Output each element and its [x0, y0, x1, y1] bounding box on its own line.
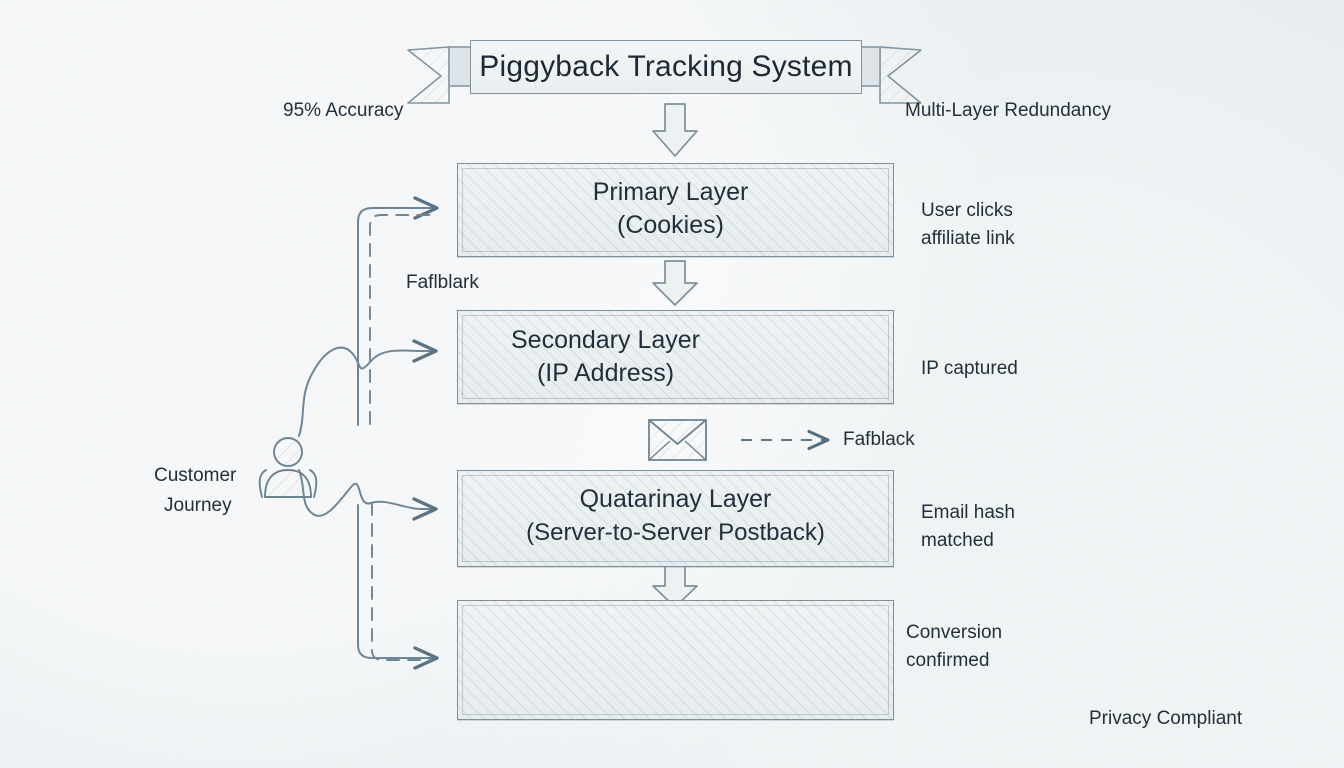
annotation-redundancy: Multi-Layer Redundancy: [905, 99, 1111, 124]
layer-box-quatarinay[interactable]: Quatarinay Layer (Server-to-Server Postb…: [457, 470, 894, 567]
annotation-privacy-compliant: Privacy Compliant: [1089, 707, 1242, 732]
block-down-arrow-icon: [653, 104, 697, 156]
block-down-arrow-icon: [653, 261, 697, 305]
side-note-quatarinay-line2: matched: [921, 529, 994, 554]
side-note-secondary-line1: IP captured: [921, 357, 1018, 382]
annotation-fafblack: Fafblack: [843, 428, 915, 453]
side-note-primary-line1: User clicks: [921, 199, 1013, 224]
journey-curve-quatarinay: [299, 470, 436, 516]
side-note-conversion-line1: Conversion: [906, 621, 1002, 646]
layer-subtitle-quatarinay: (Server-to-Server Postback): [458, 519, 893, 547]
feedback-line-conversion-dashed: [372, 503, 431, 660]
diagram-canvas: Piggyback Tracking System Primary Layer …: [0, 0, 1344, 768]
box-inner-border: [462, 605, 889, 715]
layer-title-secondary: Secondary Layer: [478, 326, 733, 355]
envelope-icon: [649, 420, 706, 460]
layer-subtitle-secondary: (IP Address): [478, 359, 733, 388]
layer-box-conversion[interactable]: [457, 600, 894, 720]
feedback-line-primary-dashed: [370, 215, 431, 424]
page-title: Piggyback Tracking System: [479, 50, 852, 84]
side-note-primary-line2: affiliate link: [921, 227, 1015, 252]
banner-right-tail: [858, 47, 921, 103]
side-note-quatarinay-line1: Email hash: [921, 501, 1015, 526]
layer-title-quatarinay: Quatarinay Layer: [458, 485, 893, 514]
journey-curve-secondary: [299, 348, 436, 436]
layer-title-primary: Primary Layer: [568, 178, 773, 207]
banner-left-tail: [408, 47, 471, 103]
side-note-conversion-line2: confirmed: [906, 649, 989, 674]
layer-subtitle-primary: (Cookies): [568, 211, 773, 240]
diagram-title-banner: Piggyback Tracking System: [470, 40, 862, 94]
customer-person-icon: [260, 438, 317, 497]
annotation-faflblark: Faflblark: [406, 271, 479, 296]
layer-box-primary[interactable]: Primary Layer (Cookies): [457, 163, 894, 257]
annotation-customer-journey-line1: Customer: [154, 464, 236, 489]
annotation-accuracy: 95% Accuracy: [283, 99, 403, 124]
annotation-customer-journey-line2: Journey: [164, 494, 232, 519]
layer-box-secondary[interactable]: Secondary Layer (IP Address): [457, 310, 894, 404]
feedback-line-conversion-solid: [358, 505, 437, 658]
